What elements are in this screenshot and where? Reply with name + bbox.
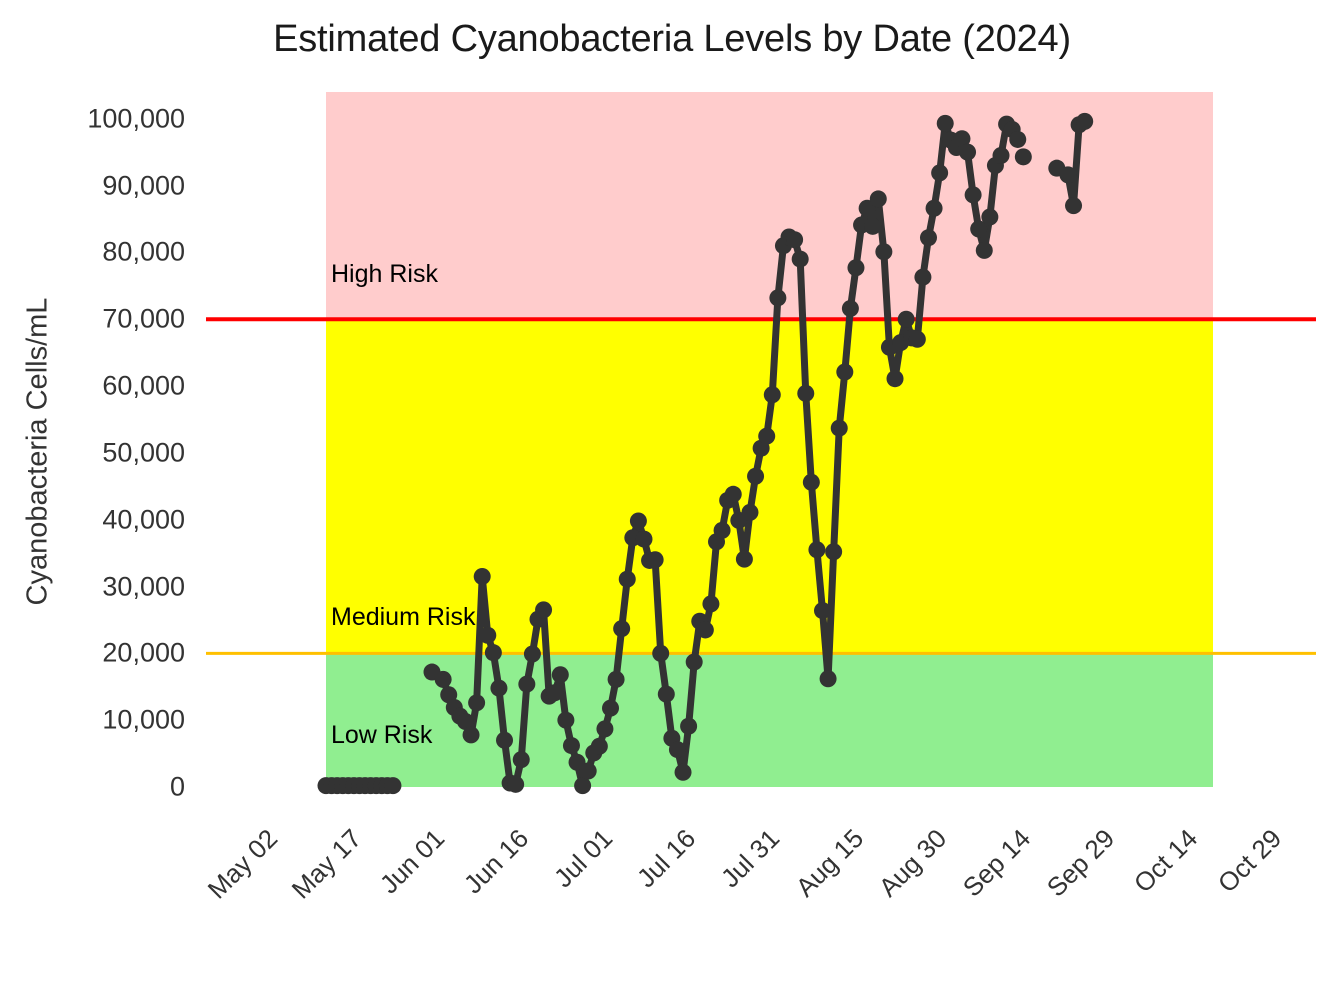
data-point-marker (463, 726, 480, 743)
data-point-marker (887, 370, 904, 387)
data-point-marker (1015, 148, 1032, 165)
data-point-marker (680, 718, 697, 735)
data-point-marker (574, 777, 591, 794)
data-point-marker (825, 543, 842, 560)
data-point-marker (1059, 166, 1076, 183)
data-point-marker (847, 259, 864, 276)
data-point-marker (613, 620, 630, 637)
y-tick-label: 60,000 (0, 371, 185, 402)
data-point-marker (769, 289, 786, 306)
plot-area (0, 0, 1344, 960)
data-point-marker (596, 720, 613, 737)
data-point-marker (652, 645, 669, 662)
data-point-marker (993, 147, 1010, 164)
data-point-marker (435, 671, 452, 688)
data-point-marker (926, 200, 943, 217)
y-tick-label: 90,000 (0, 170, 185, 201)
data-point-marker (485, 644, 502, 661)
data-point-marker (842, 300, 859, 317)
data-point-marker (1009, 131, 1026, 148)
y-tick-label: 80,000 (0, 237, 185, 268)
medium-risk-band-label: Medium Risk (331, 603, 475, 632)
data-point-marker (384, 777, 401, 794)
chart-title: Estimated Cyanobacteria Levels by Date (… (0, 18, 1344, 61)
data-point-marker (557, 712, 574, 729)
data-point-marker (808, 541, 825, 558)
data-point-marker (714, 522, 731, 539)
data-point-marker (965, 186, 982, 203)
data-point-marker (608, 671, 625, 688)
data-point-marker (797, 385, 814, 402)
data-point-marker (914, 269, 931, 286)
data-point-marker (675, 764, 692, 781)
data-point-marker (602, 700, 619, 717)
y-tick-label: 70,000 (0, 304, 185, 335)
y-tick-label: 10,000 (0, 705, 185, 736)
data-point-marker (496, 732, 513, 749)
data-point-marker (697, 621, 714, 638)
data-point-marker (747, 468, 764, 485)
data-point-marker (647, 551, 664, 568)
data-point-marker (686, 654, 703, 671)
data-point-marker (764, 386, 781, 403)
data-point-marker (937, 115, 954, 132)
data-point-marker (803, 474, 820, 491)
data-point-marker (792, 251, 809, 268)
data-point-marker (702, 595, 719, 612)
low-risk-band-label: Low Risk (331, 721, 432, 750)
data-point-marker (474, 568, 491, 585)
y-tick-label: 100,000 (0, 103, 185, 134)
data-point-marker (909, 331, 926, 348)
data-point-marker (981, 208, 998, 225)
data-point-marker (870, 190, 887, 207)
data-point-marker (507, 776, 524, 793)
data-point-marker (836, 364, 853, 381)
data-point-marker (658, 686, 675, 703)
data-point-marker (758, 428, 775, 445)
data-point-marker (546, 684, 563, 701)
data-point-marker (820, 670, 837, 687)
data-point-marker (725, 486, 742, 503)
data-point-marker (513, 751, 530, 768)
data-point-marker (786, 231, 803, 248)
data-point-marker (518, 676, 535, 693)
y-tick-label: 40,000 (0, 504, 185, 535)
y-tick-label: 50,000 (0, 437, 185, 468)
data-point-marker (479, 627, 496, 644)
data-point-marker (976, 242, 993, 259)
data-point-marker (524, 646, 541, 663)
data-point-marker (630, 513, 647, 530)
data-point-marker (580, 762, 597, 779)
data-point-marker (898, 311, 915, 328)
data-point-marker (591, 738, 608, 755)
data-point-marker (814, 602, 831, 619)
data-point-marker (831, 420, 848, 437)
data-point-marker (1076, 113, 1093, 130)
y-tick-label: 30,000 (0, 571, 185, 602)
y-tick-label: 20,000 (0, 638, 185, 669)
data-point-marker (490, 680, 507, 697)
data-point-marker (931, 164, 948, 181)
data-point-marker (959, 144, 976, 161)
data-point-marker (535, 601, 552, 618)
y-tick-label: 0 (0, 772, 185, 803)
data-point-marker (864, 218, 881, 235)
data-point-marker (741, 504, 758, 521)
data-point-marker (920, 229, 937, 246)
cyanobacteria-chart: Estimated Cyanobacteria Levels by Date (… (0, 0, 1344, 960)
high-risk-band-label: High Risk (331, 260, 438, 289)
data-point-marker (563, 737, 580, 754)
data-point-marker (1065, 197, 1082, 214)
data-point-marker (552, 666, 569, 683)
data-point-marker (736, 551, 753, 568)
data-point-marker (635, 531, 652, 548)
data-point-marker (468, 694, 485, 711)
data-point-marker (875, 243, 892, 260)
data-point-marker (619, 571, 636, 588)
data-point-marker (669, 741, 686, 758)
